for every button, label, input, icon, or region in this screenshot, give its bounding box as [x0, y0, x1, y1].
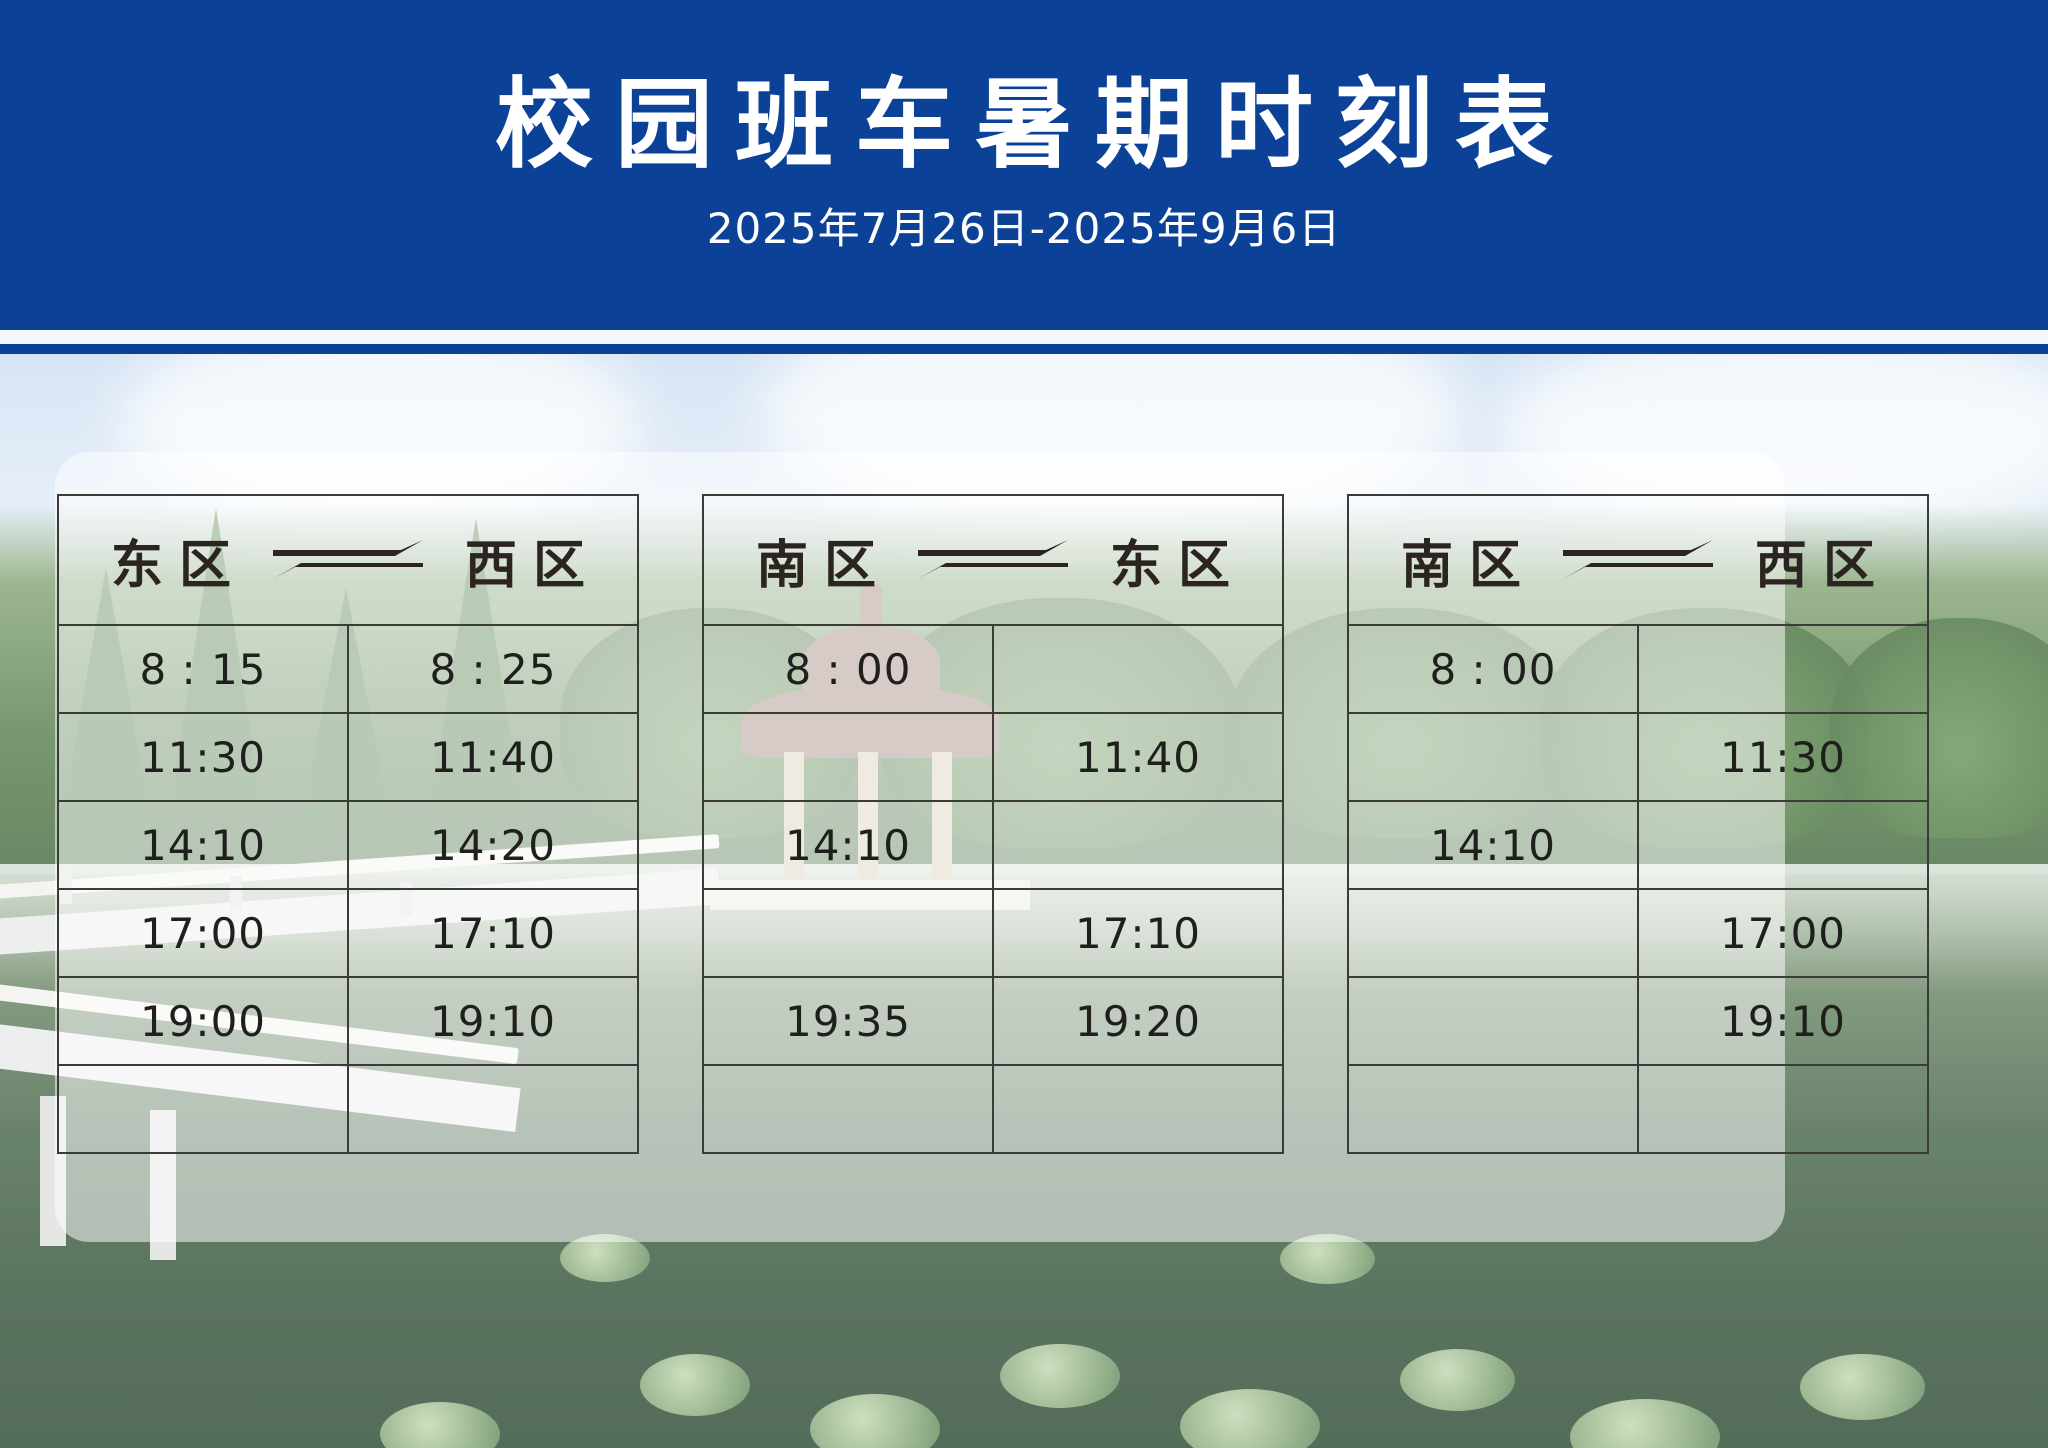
time-cell: 17:10 — [993, 889, 1283, 977]
time-cell — [703, 1065, 993, 1153]
table-row: 8 : 158 : 25 — [58, 625, 638, 713]
time-cell: 8 : 15 — [58, 625, 348, 713]
time-cell — [993, 801, 1283, 889]
schedule-table-east-west: 东区 西区 8 : 158 : 25 11 — [57, 494, 639, 1154]
time-cell — [1348, 1065, 1638, 1153]
table-row: 14:10 — [1348, 801, 1928, 889]
bidirectional-arrow-icon — [273, 533, 423, 587]
time-cell: 14:20 — [348, 801, 638, 889]
table-row — [1348, 1065, 1928, 1153]
time-cell: 19:10 — [348, 977, 638, 1065]
page-title: 校园班车暑期时刻表 — [473, 74, 1575, 177]
zone-label-right: 西区 — [1739, 523, 1891, 598]
time-cell — [703, 713, 993, 801]
time-cell: 8 : 00 — [703, 625, 993, 713]
time-cell: 14:10 — [58, 801, 348, 889]
time-cell — [58, 1065, 348, 1153]
time-cell: 19:00 — [58, 977, 348, 1065]
table-header-south-east: 南区 东区 — [703, 495, 1283, 625]
page-header: 校园班车暑期时刻表 2025年7月26日-2025年9月6日 — [0, 0, 2048, 330]
time-cell — [1638, 1065, 1928, 1153]
table-body: 8 : 00 11:30 14:10 17:00 19:10 — [1348, 625, 1928, 1153]
header-divider-blue — [0, 344, 2048, 354]
time-cell — [993, 625, 1283, 713]
table-row: 14:1014:20 — [58, 801, 638, 889]
time-cell: 11:30 — [1638, 713, 1928, 801]
table-row — [703, 1065, 1283, 1153]
time-cell — [348, 1065, 638, 1153]
time-cell: 17:00 — [1638, 889, 1928, 977]
time-cell: 8 : 00 — [1348, 625, 1638, 713]
table-row: 11:30 — [1348, 713, 1928, 801]
table-row: 11:3011:40 — [58, 713, 638, 801]
time-cell: 19:35 — [703, 977, 993, 1065]
time-cell — [1638, 625, 1928, 713]
time-cell: 17:00 — [58, 889, 348, 977]
zone-label-left: 南区 — [1385, 523, 1537, 598]
zone-label-left: 东区 — [95, 523, 247, 598]
zone-label-right: 西区 — [449, 523, 601, 598]
table-row: 19:3519:20 — [703, 977, 1283, 1065]
table-row: 19:10 — [1348, 977, 1928, 1065]
bidirectional-arrow-icon — [1563, 533, 1713, 587]
table-row: 8 : 00 — [1348, 625, 1928, 713]
table-row: 17:10 — [703, 889, 1283, 977]
time-cell — [1638, 801, 1928, 889]
table-row: 17:0017:10 — [58, 889, 638, 977]
bidirectional-arrow-icon — [918, 533, 1068, 587]
schedule-tables-container: 东区 西区 8 : 158 : 25 11 — [0, 354, 2048, 1448]
table-body: 8 : 158 : 25 11:3011:40 14:1014:20 17:00… — [58, 625, 638, 1153]
schedule-table-south-east: 南区 东区 8 : 00 11:40 — [702, 494, 1284, 1154]
table-row: 19:0019:10 — [58, 977, 638, 1065]
header-divider-light — [0, 330, 2048, 344]
table-row: 11:40 — [703, 713, 1283, 801]
time-cell: 19:10 — [1638, 977, 1928, 1065]
page-subtitle-date-range: 2025年7月26日-2025年9月6日 — [707, 195, 1342, 256]
time-cell — [703, 889, 993, 977]
time-cell — [993, 1065, 1283, 1153]
table-header-east-west: 东区 西区 — [58, 495, 638, 625]
table-header-south-west: 南区 西区 — [1348, 495, 1928, 625]
schedule-table-south-west: 南区 西区 8 : 00 11:30 — [1347, 494, 1929, 1154]
table-body: 8 : 00 11:40 14:10 17:10 19:3519:20 — [703, 625, 1283, 1153]
time-cell: 14:10 — [1348, 801, 1638, 889]
time-cell: 11:40 — [993, 713, 1283, 801]
zone-label-right: 东区 — [1094, 523, 1246, 598]
time-cell — [1348, 713, 1638, 801]
time-cell: 8 : 25 — [348, 625, 638, 713]
time-cell: 14:10 — [703, 801, 993, 889]
time-cell: 19:20 — [993, 977, 1283, 1065]
time-cell: 11:30 — [58, 713, 348, 801]
time-cell — [1348, 889, 1638, 977]
time-cell: 11:40 — [348, 713, 638, 801]
table-row: 14:10 — [703, 801, 1283, 889]
zone-label-left: 南区 — [740, 523, 892, 598]
time-cell — [1348, 977, 1638, 1065]
table-row: 8 : 00 — [703, 625, 1283, 713]
time-cell: 17:10 — [348, 889, 638, 977]
table-row: 17:00 — [1348, 889, 1928, 977]
table-row — [58, 1065, 638, 1153]
